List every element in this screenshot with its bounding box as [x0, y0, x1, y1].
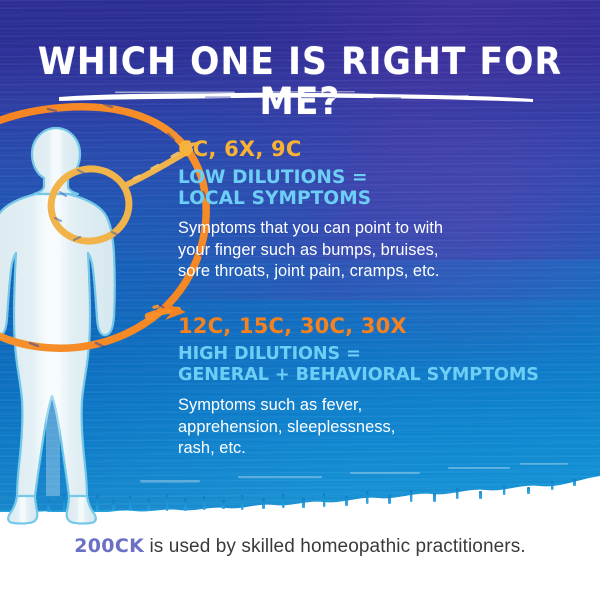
title-underline-brushstroke: [55, 88, 545, 110]
description-high: Symptoms such as fever, apprehension, sl…: [178, 395, 539, 460]
subheading-low: LOW DILUTIONS = LOCAL SYMPTOMS: [178, 167, 443, 209]
page-title: WHICH ONE IS RIGHT FOR ME?: [21, 42, 579, 122]
footer-note: 200CK is used by skilled homeopathic pra…: [0, 534, 600, 559]
potency-list-high: 12C, 15C, 30C, 30X: [178, 314, 539, 338]
subheading-high: HIGH DILUTIONS = GENERAL + BEHAVIORAL SY…: [178, 344, 539, 386]
infographic-canvas: WHICH ONE IS RIGHT FOR ME? 6C, 6X, 9C LO…: [0, 0, 600, 600]
dilution-block-low: 6C, 6X, 9C LOW DILUTIONS = LOCAL SYMPTOM…: [178, 137, 443, 283]
potency-list-low: 6C, 6X, 9C: [178, 137, 443, 161]
footer-potency-code: 200CK: [74, 535, 144, 557]
dilution-block-high: 12C, 15C, 30C, 30X HIGH DILUTIONS = GENE…: [178, 314, 539, 460]
footer-note-text: is used by skilled homeopathic practitio…: [144, 536, 526, 557]
description-low: Symptoms that you can point to with your…: [178, 218, 443, 283]
